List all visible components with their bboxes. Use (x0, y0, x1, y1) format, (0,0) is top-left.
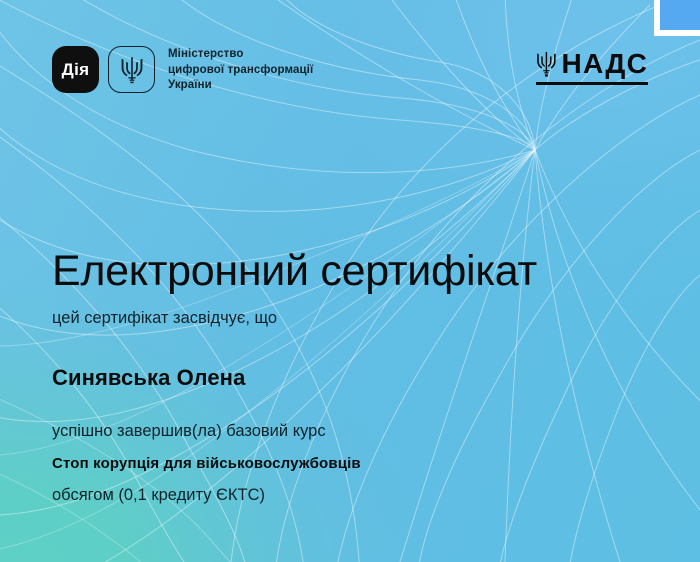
brand-group-left: Дія Міністерство (52, 46, 313, 94)
ministry-line-1: Міністерство (168, 47, 313, 63)
corner-bracket-mark (654, 0, 700, 36)
course-name: Стоп корупція для військовослужбовців (52, 454, 660, 474)
nads-logo-label: НАДС (562, 50, 648, 78)
diia-logo-label: Дія (62, 61, 90, 78)
certificate-body: Електронний сертифікат цей сертифікат за… (52, 248, 660, 507)
ministry-name: Міністерство цифрової трансформації Укра… (168, 47, 313, 94)
completion-text: успішно завершив(ла) базовий курс (52, 421, 660, 442)
recipient-name: Синявська Олена (52, 365, 660, 391)
diia-logo: Дія (52, 46, 99, 93)
nads-logo: НАДС (536, 50, 648, 85)
nads-logo-row: НАДС (536, 50, 648, 78)
certificate-subtitle: цей сертифікат засвідчує, що (52, 308, 660, 329)
certificate-header: Дія Міністерство (52, 46, 648, 94)
corner-block (660, 0, 700, 30)
credits-text: обсягом (0,1 кредиту ЄКТС) (52, 485, 660, 506)
nads-logo-underline (536, 82, 648, 85)
certificate-canvas: Дія Міністерство (0, 0, 700, 562)
ukraine-trident-icon (108, 46, 155, 93)
ministry-line-3: України (168, 78, 313, 94)
nads-trident-icon (536, 51, 557, 78)
ministry-line-2: цифрової трансформації (168, 63, 313, 79)
certificate-title: Електронний сертифікат (52, 248, 660, 294)
corner-bar-horizontal (654, 30, 700, 36)
